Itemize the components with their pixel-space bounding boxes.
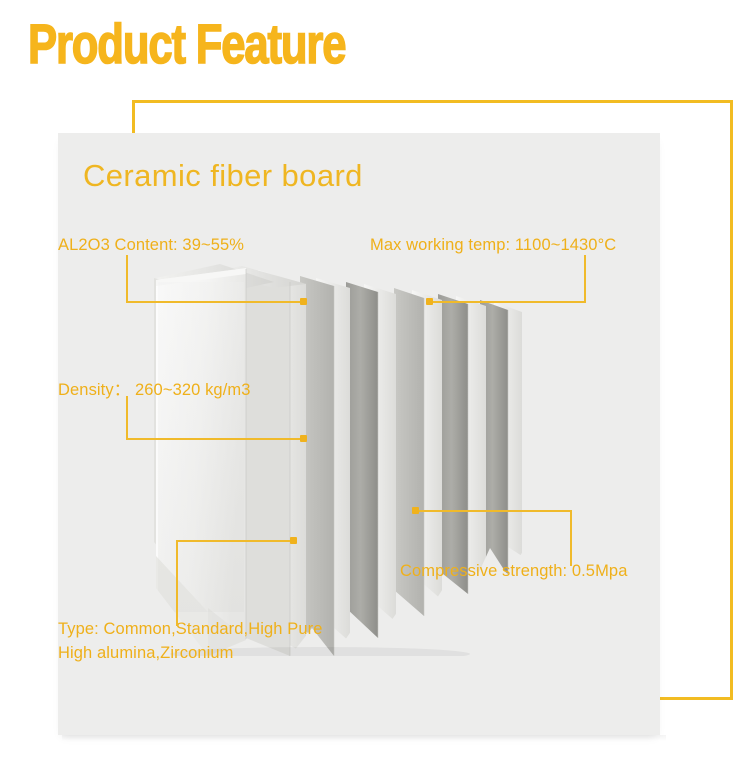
feature-label-al2o3-content: AL2O3 Content: 39~55% [58,236,244,255]
connector-horizontal [416,510,572,512]
connector-max-working-temp [426,255,586,305]
connector-vertical [126,396,128,440]
connector-endpoint-dot [300,435,307,442]
connector-horizontal [430,301,586,303]
connector-type [176,538,304,628]
connector-endpoint-dot [290,537,297,544]
connector-endpoint-dot [300,298,307,305]
connector-vertical [126,255,128,303]
feature-label-type-line2: High alumina,Zirconium [58,642,398,666]
connector-horizontal [176,540,294,542]
page-title: Product Feature [28,16,345,72]
connector-endpoint-dot [412,507,419,514]
connector-al2o3-content [126,255,311,305]
connector-horizontal [126,438,304,440]
frame-right-edge [730,100,733,700]
feature-label-max-working-temp: Max working temp: 1100~1430°C [370,236,616,255]
product-heading: Ceramic fiber board [83,158,363,194]
connector-vertical [570,510,572,566]
connector-vertical [176,540,178,626]
connector-vertical [584,255,586,303]
connector-compressive-strength [412,506,577,568]
connector-density [126,396,311,446]
connector-endpoint-dot [426,298,433,305]
frame-bottom-edge [656,697,733,700]
connector-horizontal [126,301,304,303]
frame-top-edge [132,100,733,103]
